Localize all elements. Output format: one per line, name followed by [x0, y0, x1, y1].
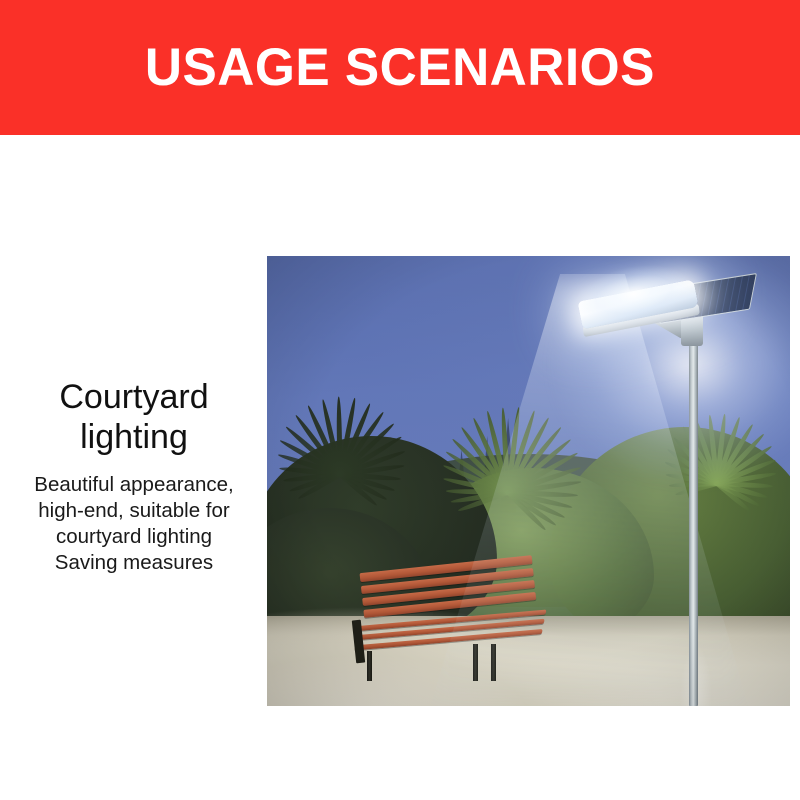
- page-title: USAGE SCENARIOS: [145, 41, 655, 94]
- feature-heading-line-1: Courtyard: [59, 378, 208, 416]
- feature-description-line-3: courtyard lighting: [14, 524, 254, 550]
- feature-description: Beautiful appearance, high-end, suitable…: [14, 472, 254, 577]
- bench-leg-near: [367, 651, 372, 681]
- light-pole: [689, 297, 699, 707]
- feature-description-line-1: Beautiful appearance,: [14, 472, 254, 498]
- feature-heading-line-2: lighting: [80, 418, 188, 456]
- feature-description-line-4: Saving measures: [14, 550, 254, 576]
- feature-text-block: Courtyard lighting Beautiful appearance,…: [14, 378, 254, 576]
- scenario-photo: [267, 256, 790, 706]
- photo-canvas: [267, 256, 790, 706]
- page-header-banner: USAGE SCENARIOS: [0, 0, 800, 135]
- feature-heading: Courtyard lighting: [14, 378, 254, 458]
- feature-description-line-2: high-end, suitable for: [14, 498, 254, 524]
